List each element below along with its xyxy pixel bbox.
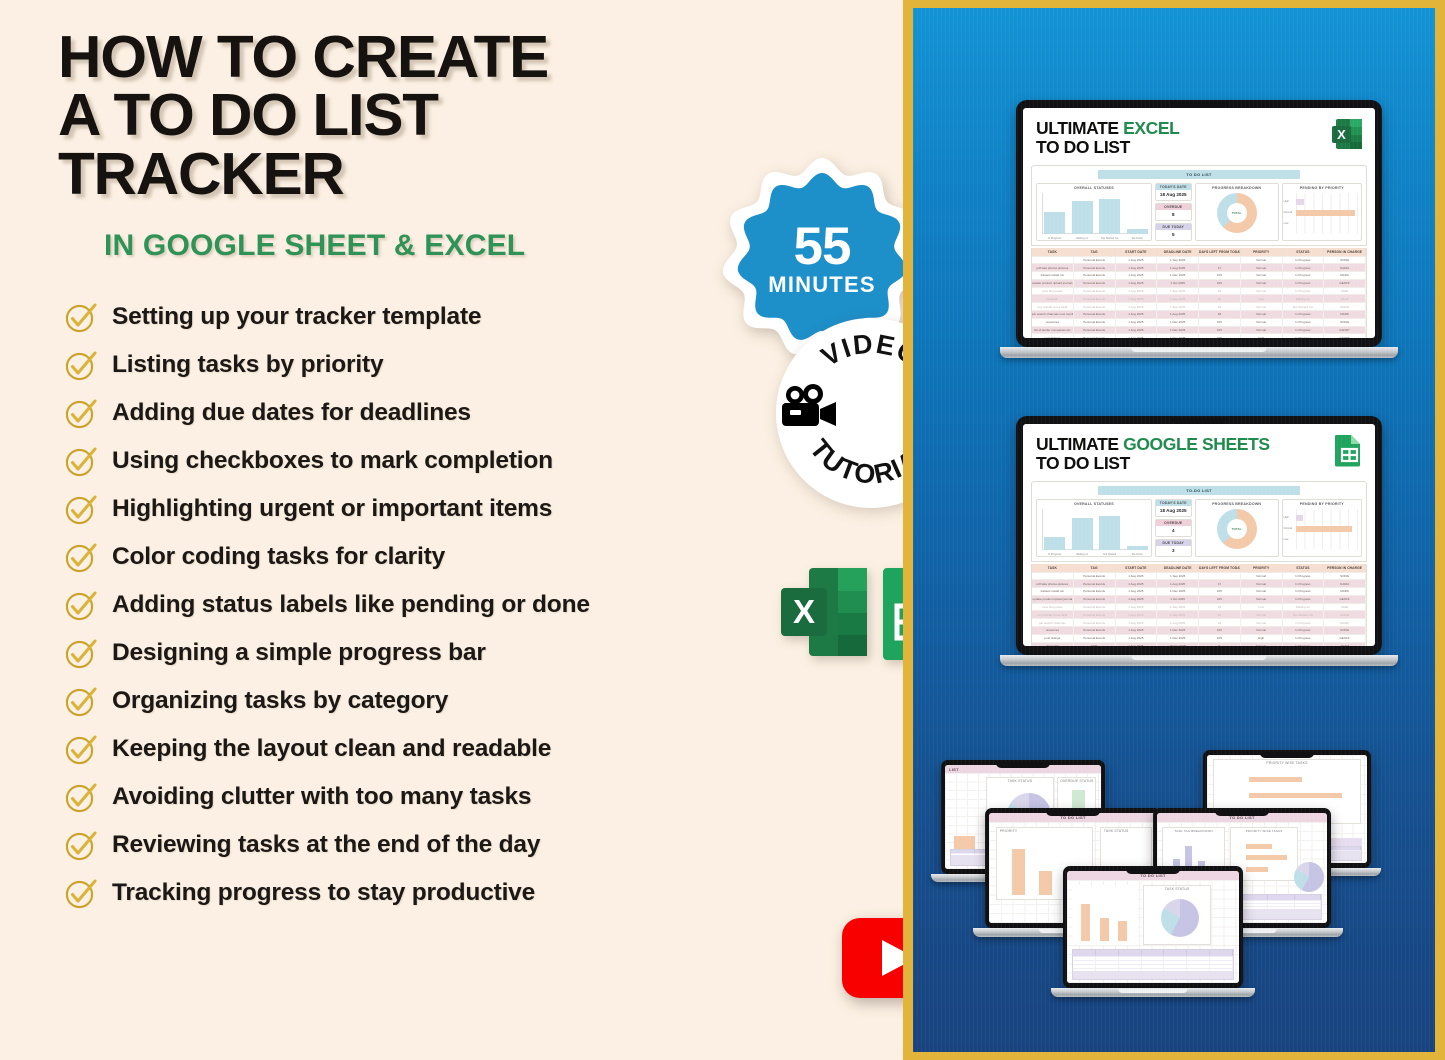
table-cell: Personal Events (1074, 264, 1116, 271)
table-cell: update product upload journal order etc (1032, 280, 1074, 287)
table-column-header: TAG (1074, 248, 1116, 256)
table-cell: Personal Events (1074, 288, 1116, 295)
table-cell: In Progress (1283, 319, 1325, 326)
table-cell: Fastest install run (1032, 588, 1074, 595)
table-row: buy bundle cross localPersonal Events1 A… (1032, 610, 1366, 618)
dashboard-banner: TO DO LIST (1098, 170, 1300, 179)
table-cell: Normal (1241, 288, 1283, 295)
table-cell: In Progress (1283, 257, 1325, 264)
table-cell: In Progress (1283, 272, 1325, 279)
table-cell: buy bundle cross local (1032, 303, 1074, 310)
feature-item-label: Avoiding clutter with too many tasks (112, 783, 531, 811)
excel-logo-icon: X (1331, 117, 1365, 151)
dashboard-area: TO-DO LIST OVERALL STATUSES In ProgressW… (1031, 481, 1367, 562)
table-cell: In Progress (1283, 327, 1325, 334)
table-row: update product upload journal order etcP… (1032, 279, 1366, 287)
table-cell: 105 (1199, 635, 1241, 642)
table-cell: 1 Dec 2025 (1157, 319, 1199, 326)
table-cell: GEOFF (1324, 280, 1366, 287)
feature-item-label: Color coding tasks for clarity (112, 543, 445, 571)
table-row: job search channels new monthlyPersonal … (1032, 310, 1366, 318)
panel-title: PROGRESS BREAKDOWN (1198, 186, 1276, 190)
feature-item-label: Tracking progress to stay productive (112, 879, 535, 907)
panel-title: OVERALL STATUSES (1039, 502, 1149, 506)
svg-text:X: X (793, 593, 815, 630)
table-cell: In Progress (1283, 635, 1325, 642)
table-column-header: STATUS (1283, 248, 1325, 256)
task-table: TASKTAGSTART DATEDEADLINE DATEDAYS LEFT … (1031, 248, 1367, 339)
table-cell: In Progress (1283, 627, 1325, 634)
table-cell: 1 Dec 2025 (1157, 635, 1199, 642)
pie-chart (1161, 899, 1199, 937)
laptop-screen: TO DO LIST TASK STATUS (1067, 871, 1239, 983)
check-circle-icon (64, 540, 98, 574)
table-cell: 1 Aug 2025 (1116, 334, 1158, 338)
stat-value: 18 Aug 2025 (1156, 506, 1191, 516)
table-cell: 1 Aug 2025 (1157, 311, 1199, 318)
table-cell: 1 Sep 2025 (1157, 288, 1199, 295)
table-cell: Personal Events (1074, 611, 1116, 618)
table-row: new blog postsPersonal Events1 Aug 20251… (1032, 603, 1366, 611)
table-cell: Not Started Yet (1283, 303, 1325, 310)
table-column-header: STATUS (1283, 564, 1325, 572)
feature-item: Avoiding clutter with too many tasks (64, 773, 905, 821)
table-cell: 1 Dec 2025 (1157, 627, 1199, 634)
table-cell: update product upload journal (1032, 596, 1074, 603)
table-cell: Normal (1241, 327, 1283, 334)
table-column-header: PRIORITY (1241, 248, 1283, 256)
table-cell: Normal (1241, 573, 1283, 580)
table-cell: 45 (1199, 288, 1241, 295)
laptop-lid: ULTIMATE EXCEL TO DO LIST X (1016, 100, 1382, 347)
page-title: HOW TO CREATE A TO DO LIST TRACKER (58, 28, 721, 203)
table-cell: Normal (1241, 588, 1283, 595)
feature-item-label: Designing a simple progress bar (112, 639, 486, 667)
table-row: buy bundle cross localPersonal Events1 A… (1032, 302, 1366, 310)
table-cell: Personal Events (1074, 635, 1116, 642)
table-cell: Normal (1241, 272, 1283, 279)
table-cell: 1 Aug 2025 (1116, 604, 1158, 611)
table-cell: MARK (1324, 619, 1366, 626)
table-cell: In Progress (1283, 573, 1325, 580)
mockup-heading: ULTIMATE GOOGLE SHEETS TO DO LIST (1023, 424, 1375, 478)
table-cell: Personal Events (1074, 588, 1116, 595)
bar-x-labels: In ProgressWaiting onNot StartedRe-check (1044, 553, 1148, 556)
table-cell: 105 (1199, 588, 1241, 595)
table-cell: In Progress (1283, 264, 1325, 271)
table-column-header: TASK (1032, 564, 1074, 572)
table-cell: 1 Aug 2025 (1116, 588, 1158, 595)
table-cell: 1 Aug 2025 (1116, 643, 1158, 646)
table-cell: High (1241, 334, 1283, 338)
table-cell: Personal Events (1074, 311, 1116, 318)
stat-card-overdue: OVERDUE 4 (1155, 519, 1192, 537)
table-cell: list of tender companies etc (1032, 327, 1074, 334)
mockup-title-prefix: ULTIMATE (1036, 118, 1123, 138)
table-cell: In Progress (1283, 280, 1325, 287)
check-circle-icon (64, 732, 98, 766)
table-cell: 1 Dec 2025 (1157, 588, 1199, 595)
table-cell: SOFIE (1324, 319, 1366, 326)
stat-value: 8 (1156, 210, 1191, 220)
feature-item: Tracking progress to stay productive (64, 869, 905, 917)
table-cell: Normal (1241, 311, 1283, 318)
table-row: pdf take photos picturesPersonal Events1… (1032, 579, 1366, 587)
table-cell: 17 (1199, 580, 1241, 587)
table-cell: 105 (1199, 327, 1241, 334)
check-circle-icon (64, 300, 98, 334)
bar-series (1044, 509, 1148, 550)
table-cell: resources (1032, 319, 1074, 326)
table-cell: CANDY (1324, 327, 1366, 334)
table-cell: MARK (1324, 588, 1366, 595)
table-row: post listingsPersonal Events1 Aug 20251 … (1032, 634, 1366, 642)
feature-item-label: Adding due dates for deadlines (112, 399, 471, 427)
table-cell: 105 (1199, 280, 1241, 287)
mini-banner: LIST (945, 767, 959, 772)
donut-chart: TOTAL (1217, 193, 1257, 233)
table-cell: 5 (1199, 643, 1241, 646)
mockup-title-line2: TO DO LIST (1036, 453, 1362, 473)
panel-progress-breakdown: PROGRESS BREAKDOWN TOTAL (1195, 499, 1279, 557)
table-cell (1032, 573, 1074, 580)
mini-banner: TO DO LIST (1060, 815, 1085, 820)
table-cell: In Progress (1283, 588, 1325, 595)
table-header-row: TASKTAGSTART DATEDEADLINE DATEDAYS LEFT … (1032, 248, 1366, 256)
stat-card-todays-date: TODAY'S DATE 18 Aug 2025 (1155, 183, 1192, 201)
table-cell: Normal (1241, 627, 1283, 634)
table-cell: 105 (1199, 334, 1241, 338)
table-row: post listingsPersonal Events1 Aug 20251 … (1032, 333, 1366, 338)
laptop-screen: ULTIMATE EXCEL TO DO LIST X (1023, 108, 1375, 338)
table-cell: Personal Events (1074, 303, 1116, 310)
table-column-header: DAYS LEFT FROM TODAY (1199, 248, 1241, 256)
table-cell: 45 (1199, 604, 1241, 611)
table-cell: research (1032, 295, 1074, 302)
table-cell: 1 Dec 2025 (1157, 272, 1199, 279)
table-row: Personal Events1 Aug 20251 Sep 2025Norma… (1032, 572, 1366, 580)
table-cell: 1 Aug 2025 (1157, 264, 1199, 271)
check-circle-icon (64, 396, 98, 430)
mockup-title-brand: GOOGLE SHEETS (1123, 434, 1270, 454)
table-row: new blog postsPersonal Events1 Aug 20251… (1032, 287, 1366, 295)
table-cell: 1 Aug 2025 (1116, 573, 1158, 580)
table-cell: SOFIE (1324, 303, 1366, 310)
laptop-base (1000, 347, 1398, 358)
check-circle-icon (64, 348, 98, 382)
check-circle-icon (64, 588, 98, 622)
table-cell (1199, 257, 1241, 264)
table-cell: 45 (1199, 611, 1241, 618)
check-circle-icon (64, 828, 98, 862)
table-cell: 1 Aug 2025 (1116, 257, 1158, 264)
table-cell: resources (1032, 627, 1074, 634)
feature-item-label: Adding status labels like pending or don… (112, 591, 590, 619)
table-cell: new blog posts (1032, 288, 1074, 295)
table-cell: UTM (1074, 643, 1116, 646)
check-circle-icon (64, 780, 98, 814)
table-cell: 1 Aug 2025 (1116, 272, 1158, 279)
table-cell: 1 Aug 2025 (1157, 619, 1199, 626)
table-cell: AMIE (1324, 604, 1366, 611)
table-cell: Personal Events (1074, 334, 1116, 338)
table-cell: 1 Oct 2025 (1157, 280, 1199, 287)
table-cell: Normal (1241, 580, 1283, 587)
table-column-header: TAG (1074, 564, 1116, 572)
table-cell: In Progress (1283, 311, 1325, 318)
dashboard-banner: TO-DO LIST (1098, 486, 1300, 495)
table-cell: MARK (1324, 311, 1366, 318)
table-cell: SOFIE (1324, 611, 1366, 618)
table-cell: 1 Aug 2025 (1116, 627, 1158, 634)
table-cell: 1 Aug 2025 (1116, 280, 1158, 287)
mini-panel-title: PRIORITY (997, 828, 1092, 833)
table-cell (1032, 257, 1074, 264)
excel-logo-icon: X (781, 568, 867, 656)
table-cell: post listings (1032, 334, 1074, 338)
laptop-screen: ULTIMATE GOOGLE SHEETS TO DO LIST (1023, 424, 1375, 646)
table-cell: Personal Events (1074, 319, 1116, 326)
duration-unit: MINUTES (718, 272, 926, 298)
table-cell: 18 (1199, 311, 1241, 318)
panel-progress-breakdown: PROGRESS BREAKDOWN TOTAL (1195, 183, 1279, 241)
stat-value: 18 Aug 2025 (1156, 190, 1191, 200)
bar-x-labels: In ProgressWaiting onNot Started YetRe-c… (1044, 237, 1148, 240)
task-table: TASKTAGSTART DATEDEADLINE DATEDAYS LEFT … (1031, 564, 1367, 647)
table-column-header: PRIORITY (1241, 564, 1283, 572)
dashboard-panel-row: OVERALL STATUSES In ProgressWaiting onNo… (1036, 183, 1362, 241)
table-cell: Personal Events (1074, 627, 1116, 634)
mini-panel-title: TASK STATUS (1101, 828, 1151, 833)
laptop-mockup-mini-front: TO DO LIST TASK STATUS (1063, 866, 1243, 997)
table-cell: Normal (1241, 257, 1283, 264)
duration-value: 55 (718, 216, 926, 277)
table-cell: NADIA (1324, 264, 1366, 271)
table-cell: 18 (1199, 619, 1241, 626)
table-cell: Waiting on (1283, 295, 1325, 302)
table-cell: 1 Aug 2025 (1116, 303, 1158, 310)
table-cell: Personal Events (1074, 619, 1116, 626)
pie-chart (1294, 862, 1324, 892)
table-cell: Low (1241, 295, 1283, 302)
feature-item-label: Listing tasks by priority (112, 351, 383, 379)
table-cell: 1 Aug 2025 (1116, 635, 1158, 642)
check-circle-icon (64, 636, 98, 670)
table-cell: new blog posts (1032, 604, 1074, 611)
table-cell: 1 Sep 2025 (1157, 303, 1199, 310)
table-cell: 1 Aug 2025 (1116, 619, 1158, 626)
table-column-header: TASK (1032, 248, 1074, 256)
laptop-lid: ULTIMATE GOOGLE SHEETS TO DO LIST (1016, 416, 1382, 655)
mockup-heading: ULTIMATE EXCEL TO DO LIST (1023, 108, 1375, 162)
table-cell: Personal Events (1074, 580, 1116, 587)
table-cell: post listings (1032, 635, 1074, 642)
table-cell: Normal (1241, 264, 1283, 271)
stat-value: 3 (1156, 546, 1191, 556)
feature-item: Organizing tasks by category (64, 677, 905, 725)
panel-pending-by-priority: PENDING BY PRIORITY HighNormalLow (1282, 183, 1362, 241)
table-cell: plan pitch (1032, 643, 1074, 646)
feature-item-label: Highlighting urgent or important items (112, 495, 552, 523)
feature-item: Keeping the layout clean and readable (64, 725, 905, 773)
table-cell: pdf take photos pictures (1032, 264, 1074, 271)
feature-item-label: Reviewing tasks at the end of the day (112, 831, 540, 859)
table-column-header: PERSON IN CHARGE (1324, 564, 1366, 572)
table-cell: 1 Aug 2025 (1116, 311, 1158, 318)
table-column-header: DAYS LEFT FROM TODAY (1199, 564, 1241, 572)
table-row: resourcesPersonal Events1 Aug 20251 Dec … (1032, 626, 1366, 634)
table-column-header: DEADLINE DATE (1157, 564, 1199, 572)
table-cell: 1 Aug 2025 (1116, 596, 1158, 603)
table-body: Personal Events1 Aug 20251 Sep 2025Norma… (1032, 256, 1366, 339)
stat-value: 4 (1156, 526, 1191, 536)
table-cell: 45 (1199, 295, 1241, 302)
check-circle-icon (64, 492, 98, 526)
table-cell: Personal Events (1074, 295, 1116, 302)
table-cell: pdf take photos pictures (1032, 580, 1074, 587)
table-header-row: TASKTAGSTART DATEDEADLINE DATEDAYS LEFT … (1032, 564, 1366, 572)
table-cell: 1 Dec 2025 (1157, 327, 1199, 334)
check-circle-icon (64, 684, 98, 718)
donut-chart: TOTAL (1217, 509, 1257, 549)
table-cell: 105 (1199, 319, 1241, 326)
table-cell: Personal Events (1074, 257, 1116, 264)
table-cell: 17 (1199, 264, 1241, 271)
table-cell: In Progress (1283, 596, 1325, 603)
hbar-series (1296, 510, 1358, 549)
table-cell: Personal Events (1074, 272, 1116, 279)
table-cell: 1 Aug 2025 (1116, 580, 1158, 587)
panel-pending-by-priority: PENDING BY PRIORITY HighNormalLow (1282, 499, 1362, 557)
stat-cards: TODAY'S DATE 18 Aug 2025 OVERDUE 4 DUE T… (1155, 499, 1192, 557)
table-cell: 1 Aug 2025 (1116, 295, 1158, 302)
table-row: update product upload journalPersonal Ev… (1032, 595, 1366, 603)
table-column-header: START DATE (1116, 248, 1158, 256)
table-column-header: DEADLINE DATE (1157, 248, 1199, 256)
table-cell: ELLA (1324, 295, 1366, 302)
dashboard-area: TO DO LIST OVERALL STATUSES In ProgressW… (1031, 165, 1367, 246)
mini-panel-title: TASK TAG BREAKDOWN (1163, 828, 1224, 833)
table-cell: Normal (1241, 596, 1283, 603)
mini-banner: TO DO LIST (1140, 873, 1165, 878)
table-cell: 1 Sep 2025 (1157, 295, 1199, 302)
dashboard-panel-row: OVERALL STATUSES In ProgressWaiting onNo… (1036, 499, 1362, 557)
right-showcase-panel: ULTIMATE EXCEL TO DO LIST X (903, 0, 1445, 1060)
table-cell: Personal Events (1074, 596, 1116, 603)
panel-overall-statuses: OVERALL STATUSES In ProgressWaiting onNo… (1036, 183, 1152, 241)
table-cell: SOFIE (1324, 627, 1366, 634)
mini-panel-title: OVERDUE STATUS (1058, 778, 1095, 783)
panel-title: PROGRESS BREAKDOWN (1198, 502, 1276, 506)
table-cell: 105 (1199, 627, 1241, 634)
table-cell: GEOFF (1324, 334, 1366, 338)
table-cell: Normal (1241, 619, 1283, 626)
table-cell: buy bundle cross local (1032, 611, 1074, 618)
bar-series (1044, 193, 1148, 234)
table-cell: NADIA (1324, 580, 1366, 587)
check-circle-icon (64, 876, 98, 910)
mockup-title-brand: EXCEL (1123, 118, 1179, 138)
table-row: job search channelsPersonal Events1 Aug … (1032, 618, 1366, 626)
table-cell: Personal Events (1074, 327, 1116, 334)
table-column-header: PERSON IN CHARGE (1324, 248, 1366, 256)
laptop-mockup-sheets: ULTIMATE GOOGLE SHEETS TO DO LIST (1016, 416, 1382, 666)
stat-card-due-today: DUE TODAY 5 (1155, 223, 1192, 241)
table-cell: High (1241, 635, 1283, 642)
table-cell: Not Started Yet (1283, 611, 1325, 618)
panel-title: OVERALL STATUSES (1039, 186, 1149, 190)
table-cell: job search channels new monthly (1032, 311, 1074, 318)
feature-item-label: Organizing tasks by category (112, 687, 448, 715)
feature-item-label: Setting up your tracker template (112, 303, 481, 331)
table-cell: SOFIE (1324, 573, 1366, 580)
google-sheets-logo-icon (1331, 433, 1365, 467)
mini-panel-title: TASK STATUS (1144, 886, 1211, 891)
table-cell: 19 Aug 2025 (1157, 643, 1199, 646)
laptop-base (1000, 655, 1398, 666)
feature-item-label: Using checkboxes to mark completion (112, 447, 553, 475)
mockup-title-prefix: ULTIMATE (1036, 434, 1123, 454)
table-row: Fastest install runPersonal Events1 Aug … (1032, 587, 1366, 595)
table-column-header: START DATE (1116, 564, 1158, 572)
table-cell: Fastest install run (1032, 272, 1074, 279)
feature-item: Reviewing tasks at the end of the day (64, 821, 905, 869)
laptop-base (1051, 988, 1255, 997)
mini-banner: TO DO LIST (1229, 815, 1254, 820)
table-cell: 1 Aug 2025 (1116, 288, 1158, 295)
table-cell: SOFIE (1324, 257, 1366, 264)
stat-card-todays-date: TODAY'S DATE 18 Aug 2025 (1155, 499, 1192, 517)
laptop-mockup-excel: ULTIMATE EXCEL TO DO LIST X (1016, 100, 1382, 358)
table-cell: AMIE (1324, 288, 1366, 295)
table-cell: Personal Events (1074, 604, 1116, 611)
table-cell: 1 Sep 2025 (1157, 257, 1199, 264)
check-circle-icon (64, 444, 98, 478)
table-cell: Normal (1241, 280, 1283, 287)
mini-panel-title: TASK STATUS (987, 778, 1054, 783)
table-cell: 1 Aug 2025 (1116, 264, 1158, 271)
table-cell: 1 Sep 2025 (1157, 573, 1199, 580)
stat-value: 5 (1156, 230, 1191, 240)
table-cell (1199, 573, 1241, 580)
hbar-series (1296, 194, 1358, 233)
table-cell: 1 Aug 2025 (1116, 319, 1158, 326)
mini-panel-title: PRIORITY WISE TASKS (1214, 760, 1359, 765)
table-cell: In Progress (1283, 580, 1325, 587)
table-cell: GEOFF (1324, 596, 1366, 603)
table-cell: In Progress (1283, 288, 1325, 295)
table-cell: Low (1241, 604, 1283, 611)
table-cell: 1 Aug 2025 (1157, 580, 1199, 587)
table-cell: 1 Dec 2025 (1157, 334, 1199, 338)
panel-title: PENDING BY PRIORITY (1285, 502, 1359, 506)
table-body: Personal Events1 Aug 20251 Sep 2025Norma… (1032, 572, 1366, 647)
svg-text:X: X (1337, 127, 1346, 142)
table-cell: ADAM (1324, 643, 1366, 646)
panel-overall-statuses: OVERALL STATUSES In ProgressWaiting onNo… (1036, 499, 1152, 557)
feature-item-label: Keeping the layout clean and readable (112, 735, 551, 763)
table-cell: 1 Sep 2025 (1157, 604, 1199, 611)
table-cell: Personal Events (1074, 280, 1116, 287)
table-row: pdf take photos picturesPersonal Events1… (1032, 263, 1366, 271)
table-cell: Personal Events (1074, 573, 1116, 580)
table-cell: Normal (1241, 303, 1283, 310)
table-cell: Normal (1241, 611, 1283, 618)
table-row: resourcesPersonal Events1 Aug 20251 Dec … (1032, 318, 1366, 326)
stat-card-overdue: OVERDUE 8 (1155, 203, 1192, 221)
blue-stage: ULTIMATE EXCEL TO DO LIST X (913, 8, 1435, 1052)
table-cell: MARK (1324, 272, 1366, 279)
